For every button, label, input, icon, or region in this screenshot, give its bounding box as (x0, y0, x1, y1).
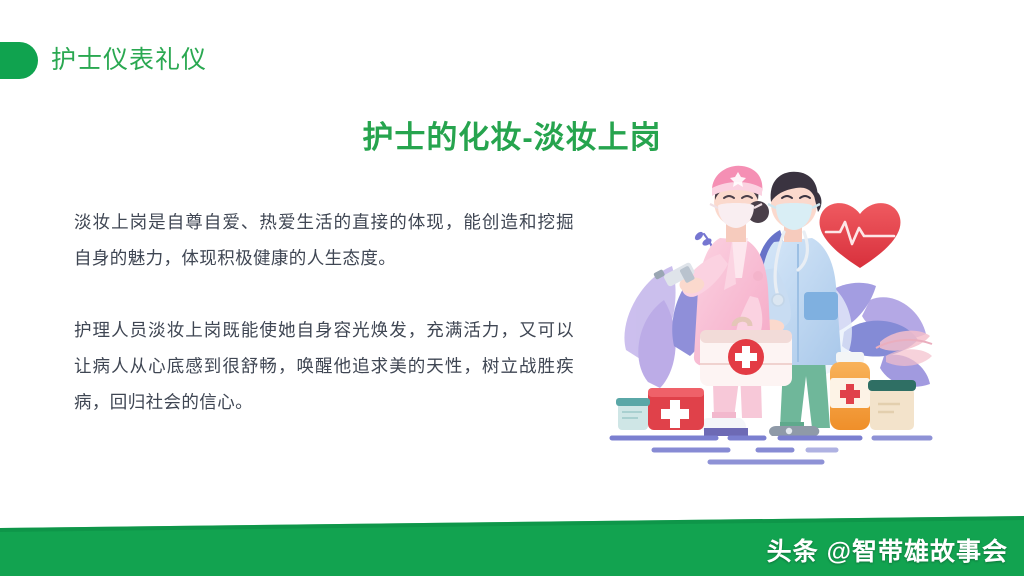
ground-lines (612, 438, 930, 462)
medical-illustration (608, 150, 938, 470)
body-text-column: 淡妆上岗是自尊自爱、热爱生活的直接的体现，能创造和挖掘自身的魅力，体现积极健康的… (74, 204, 574, 420)
red-cross-box (648, 388, 704, 430)
medicine-cup-teal (616, 398, 650, 430)
header-pill-accent (0, 42, 38, 79)
paragraph-2: 护理人员淡妆上岗既能使她自身容光焕发，充满活力，又可以让病人从心底感到很舒畅，唤… (74, 312, 574, 420)
paragraph-1: 淡妆上岗是自尊自爱、热爱生活的直接的体现，能创造和挖掘自身的魅力，体现积极健康的… (74, 204, 574, 276)
slide-root: 护士仪表礼仪 护士的化妆-淡妆上岗 淡妆上岗是自尊自爱、热爱生活的直接的体现，能… (0, 0, 1024, 576)
medicine-bottle-orange (830, 352, 870, 430)
medicine-jar-beige (868, 380, 916, 430)
watermark-text: 头条 @智带雄故事会 (767, 532, 1008, 568)
header-title: 护士仪表礼仪 (51, 48, 207, 73)
heart-ecg-icon (820, 203, 901, 268)
slide-header: 护士仪表礼仪 (0, 40, 207, 80)
